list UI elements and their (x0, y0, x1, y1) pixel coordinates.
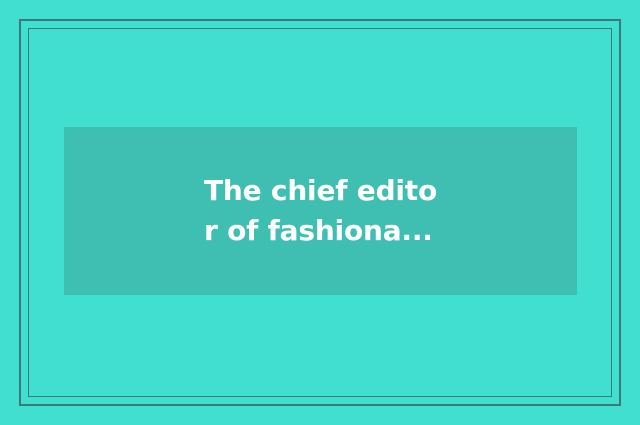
caption-line-2: r of fashiona... (204, 211, 437, 251)
caption-text-block: The chief edito r of fashiona... (204, 171, 437, 251)
content-panel: The chief edito r of fashiona... (64, 127, 577, 295)
placeholder-card-canvas: The chief edito r of fashiona... (0, 0, 640, 425)
caption-line-1: The chief edito (204, 171, 437, 211)
